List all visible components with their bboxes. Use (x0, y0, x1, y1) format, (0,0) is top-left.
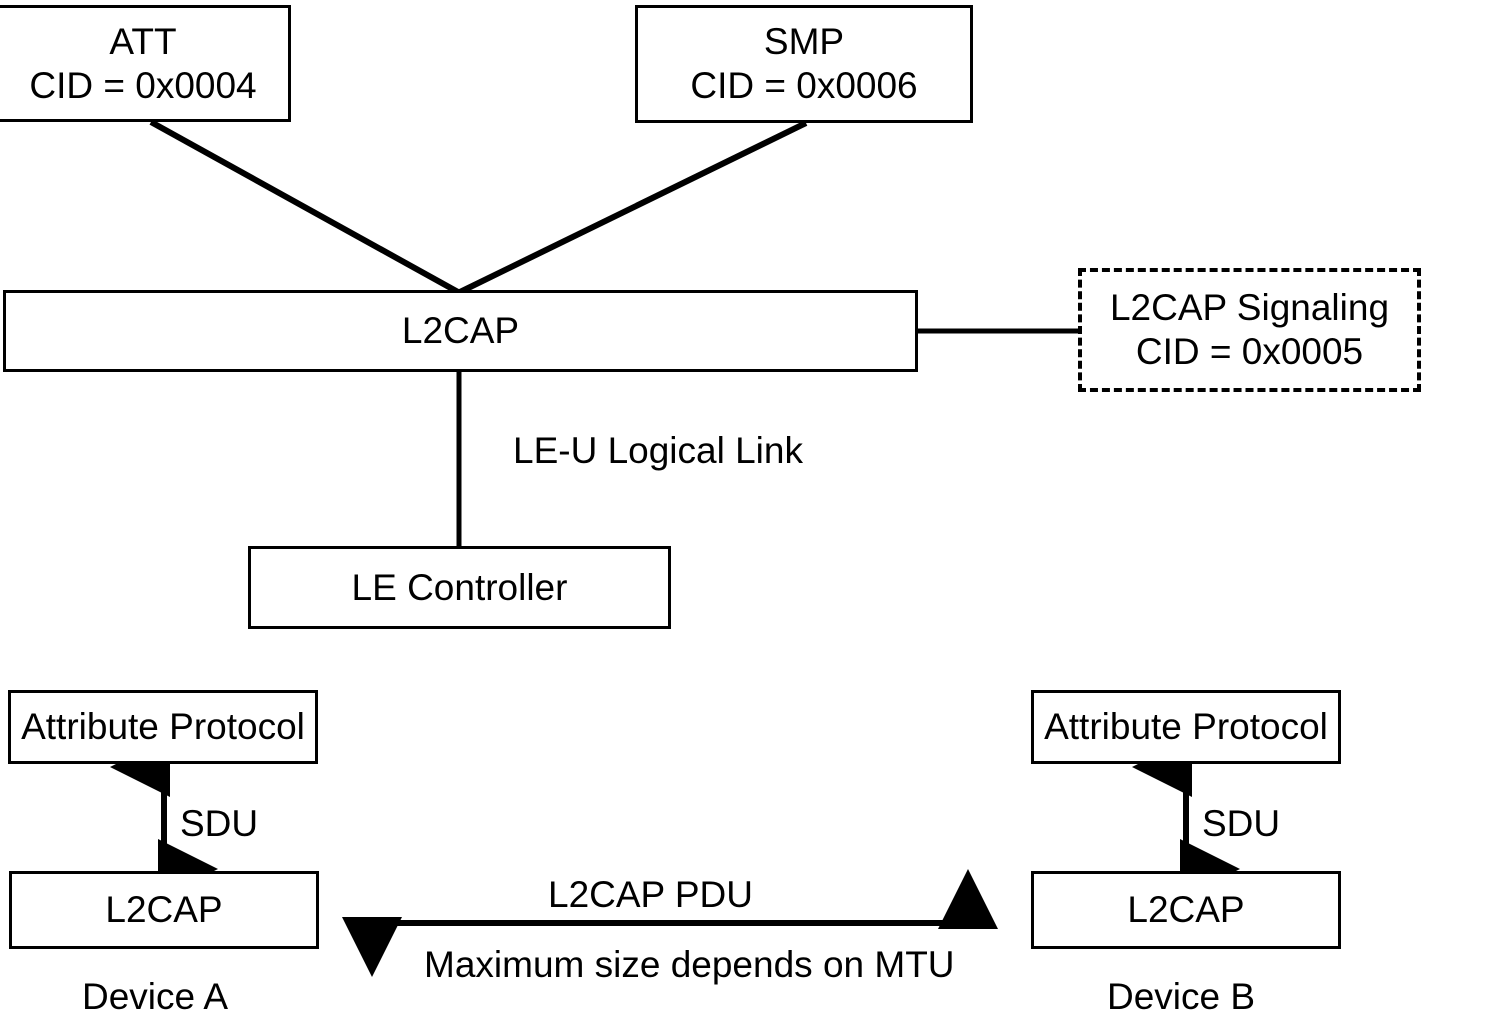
smp-box-title: SMP (764, 20, 844, 64)
device-a-sdu-label: SDU (180, 803, 258, 845)
device-a-label: Device A (82, 976, 228, 1018)
edge-smp-to-l2cap (460, 123, 806, 292)
le-controller-box[interactable]: LE Controller (248, 546, 671, 629)
device-a-attribute-protocol-box[interactable]: Attribute Protocol (8, 690, 318, 764)
smp-box[interactable]: SMP CID = 0x0006 (635, 5, 973, 123)
device-b-l2cap-label: L2CAP (1127, 888, 1244, 932)
l2cap-pdu-label: L2CAP PDU (548, 874, 753, 916)
device-b-attribute-protocol-label: Attribute Protocol (1044, 705, 1328, 749)
le-controller-label: LE Controller (352, 566, 568, 610)
att-box-cid: CID = 0x0004 (29, 64, 256, 108)
edge-att-to-l2cap (151, 122, 458, 292)
pdu-max-size-label: Maximum size depends on MTU (424, 944, 955, 986)
l2cap-signaling-box[interactable]: L2CAP Signaling CID = 0x0005 (1078, 268, 1421, 392)
device-b-label: Device B (1107, 976, 1255, 1018)
device-b-attribute-protocol-box[interactable]: Attribute Protocol (1031, 690, 1341, 764)
l2cap-bar[interactable]: L2CAP (3, 290, 918, 372)
device-a-l2cap-box[interactable]: L2CAP (9, 871, 319, 949)
diagram-canvas: ATT CID = 0x0004 SMP CID = 0x0006 L2CAP … (0, 0, 1492, 1030)
att-box[interactable]: ATT CID = 0x0004 (0, 5, 291, 122)
device-a-l2cap-label: L2CAP (105, 888, 222, 932)
smp-box-cid: CID = 0x0006 (690, 64, 917, 108)
att-box-title: ATT (109, 20, 176, 64)
device-b-l2cap-box[interactable]: L2CAP (1031, 871, 1341, 949)
signaling-box-title: L2CAP Signaling (1110, 286, 1389, 330)
l2cap-bar-label: L2CAP (402, 309, 519, 353)
device-b-sdu-label: SDU (1202, 803, 1280, 845)
signaling-box-cid: CID = 0x0005 (1136, 330, 1363, 374)
le-u-logical-link-label: LE-U Logical Link (513, 430, 803, 472)
device-a-attribute-protocol-label: Attribute Protocol (21, 705, 305, 749)
